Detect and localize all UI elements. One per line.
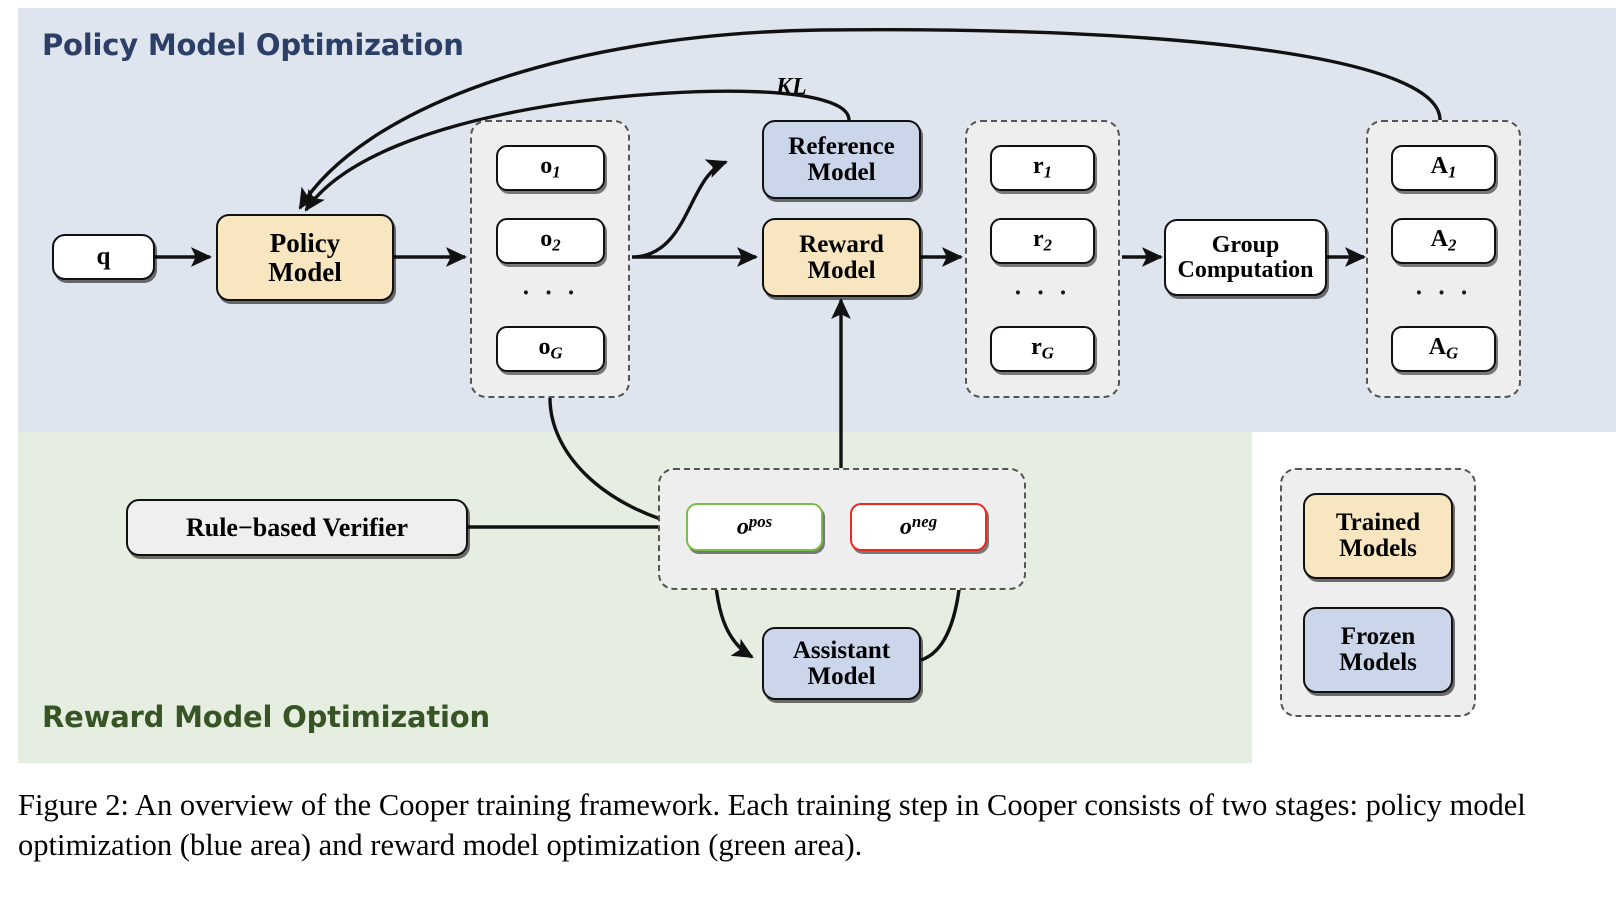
advantage-item-g[interactable]: AG bbox=[1391, 326, 1496, 372]
query-label: q bbox=[97, 244, 111, 270]
policy-model-line1: Policy bbox=[270, 229, 340, 257]
policy-model-line2: Model bbox=[268, 258, 342, 286]
negative-sample-box[interactable]: oneg bbox=[850, 503, 987, 551]
positive-sample-box[interactable]: opos bbox=[686, 503, 823, 551]
reward-item-2-label: r2 bbox=[1033, 226, 1052, 256]
positive-sample-label: opos bbox=[737, 512, 772, 541]
output-item-1[interactable]: o1 bbox=[496, 145, 605, 191]
reward-item-2[interactable]: r2 bbox=[990, 218, 1095, 264]
figure-canvas: Policy Model Optimization Reward Model O… bbox=[0, 0, 1616, 912]
kl-edge-label: KL bbox=[776, 74, 807, 101]
assistant-model-node[interactable]: Assistant Model bbox=[762, 627, 921, 700]
group-computation-line2: Computation bbox=[1177, 258, 1313, 283]
assistant-model-line1: Assistant bbox=[793, 638, 890, 664]
negative-sample-label: oneg bbox=[900, 512, 937, 541]
reward-item-1[interactable]: r1 bbox=[990, 145, 1095, 191]
reward-model-line2: Model bbox=[807, 258, 875, 284]
reward-item-g[interactable]: rG bbox=[990, 326, 1095, 372]
policy-model-node[interactable]: Policy Model bbox=[216, 214, 394, 301]
group-computation-node[interactable]: Group Computation bbox=[1164, 219, 1327, 296]
assistant-model-line2: Model bbox=[807, 664, 875, 690]
reward-model-node[interactable]: Reward Model bbox=[762, 218, 921, 297]
legend-frozen-line2: Models bbox=[1339, 650, 1417, 676]
output-item-g[interactable]: oG bbox=[496, 326, 605, 372]
legend-trained-line2: Models bbox=[1339, 536, 1417, 562]
legend-frozen-models: Frozen Models bbox=[1303, 607, 1453, 693]
reward-optimization-title: Reward Model Optimization bbox=[42, 700, 490, 734]
reward-item-1-label: r1 bbox=[1033, 153, 1052, 183]
group-computation-line1: Group bbox=[1212, 233, 1280, 258]
outputs-ellipsis: · · · bbox=[496, 280, 605, 308]
legend-frozen-line1: Frozen bbox=[1341, 624, 1416, 650]
advantage-item-2-label: A2 bbox=[1431, 226, 1457, 256]
output-item-1-label: o1 bbox=[540, 153, 560, 183]
query-node[interactable]: q bbox=[52, 234, 155, 280]
rule-based-verifier-label: Rule−based Verifier bbox=[186, 514, 408, 541]
reference-model-node[interactable]: Reference Model bbox=[762, 120, 921, 199]
output-item-g-label: oG bbox=[538, 334, 562, 364]
output-item-2-label: o2 bbox=[540, 226, 560, 256]
advantages-ellipsis: · · · bbox=[1391, 280, 1496, 308]
figure-caption: Figure 2: An overview of the Cooper trai… bbox=[18, 786, 1598, 865]
policy-optimization-title: Policy Model Optimization bbox=[42, 28, 464, 62]
output-item-2[interactable]: o2 bbox=[496, 218, 605, 264]
reference-model-line1: Reference bbox=[788, 134, 894, 160]
rewards-ellipsis: · · · bbox=[990, 280, 1095, 308]
advantage-item-1-label: A1 bbox=[1431, 153, 1457, 183]
legend-trained-models: Trained Models bbox=[1303, 493, 1453, 579]
advantage-item-2[interactable]: A2 bbox=[1391, 218, 1496, 264]
advantage-item-g-label: AG bbox=[1429, 334, 1458, 364]
advantage-item-1[interactable]: A1 bbox=[1391, 145, 1496, 191]
reward-model-line1: Reward bbox=[799, 232, 884, 258]
reference-model-line2: Model bbox=[807, 160, 875, 186]
reward-item-g-label: rG bbox=[1031, 334, 1054, 364]
legend-trained-line1: Trained bbox=[1336, 510, 1420, 536]
rule-based-verifier-node[interactable]: Rule−based Verifier bbox=[126, 499, 468, 556]
